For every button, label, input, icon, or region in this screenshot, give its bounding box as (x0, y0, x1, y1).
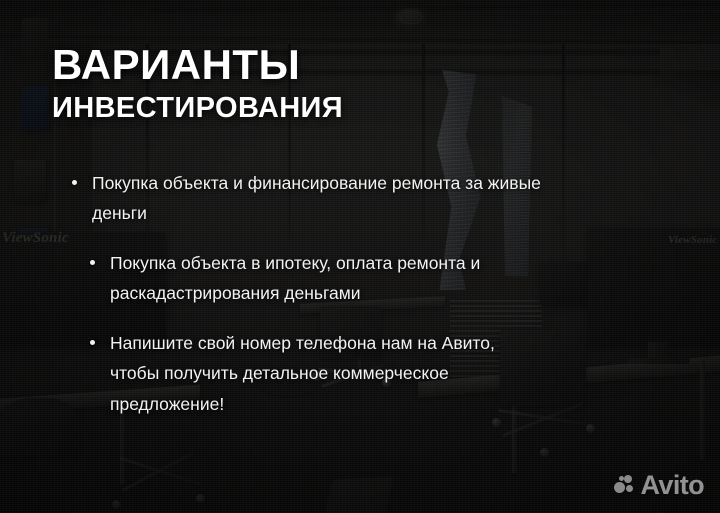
list-item-text: Напишите свой номер телефона нам на Авит… (88, 328, 510, 418)
avito-wordmark: Avito (641, 472, 705, 499)
bullet-list: Покупка объекта и финансирование ремонта… (0, 168, 680, 419)
avito-dots-icon (614, 475, 636, 497)
list-item-text: Покупка объекта в ипотеку, оплата ремонт… (88, 248, 585, 308)
page-title: ВАРИАНТЫ ИНВЕСТИРОВАНИЯ (52, 44, 343, 123)
title-primary: ВАРИАНТЫ (52, 44, 343, 86)
investment-options-slide: ViewSonic ViewSonic ВАРИАНТЫ ИНВЕСТИРОВА… (0, 0, 720, 513)
avito-dot-tiny (619, 476, 624, 481)
slide-content: ВАРИАНТЫ ИНВЕСТИРОВАНИЯ Покупка объекта … (0, 0, 720, 513)
list-item-text: Покупка объекта и финансирование ремонта… (70, 168, 592, 228)
list-item: Напишите свой номер телефона нам на Авит… (0, 328, 680, 418)
list-item: Покупка объекта и финансирование ремонта… (0, 168, 680, 228)
title-secondary: ИНВЕСТИРОВАНИЯ (52, 94, 343, 123)
bullet-dot-icon (72, 180, 77, 185)
avito-dot-medium (624, 475, 632, 483)
list-item: Покупка объекта в ипотеку, оплата ремонт… (0, 248, 680, 308)
avito-dot-large (614, 482, 625, 493)
avito-watermark: Avito (614, 472, 705, 499)
avito-dot-small (626, 485, 633, 492)
